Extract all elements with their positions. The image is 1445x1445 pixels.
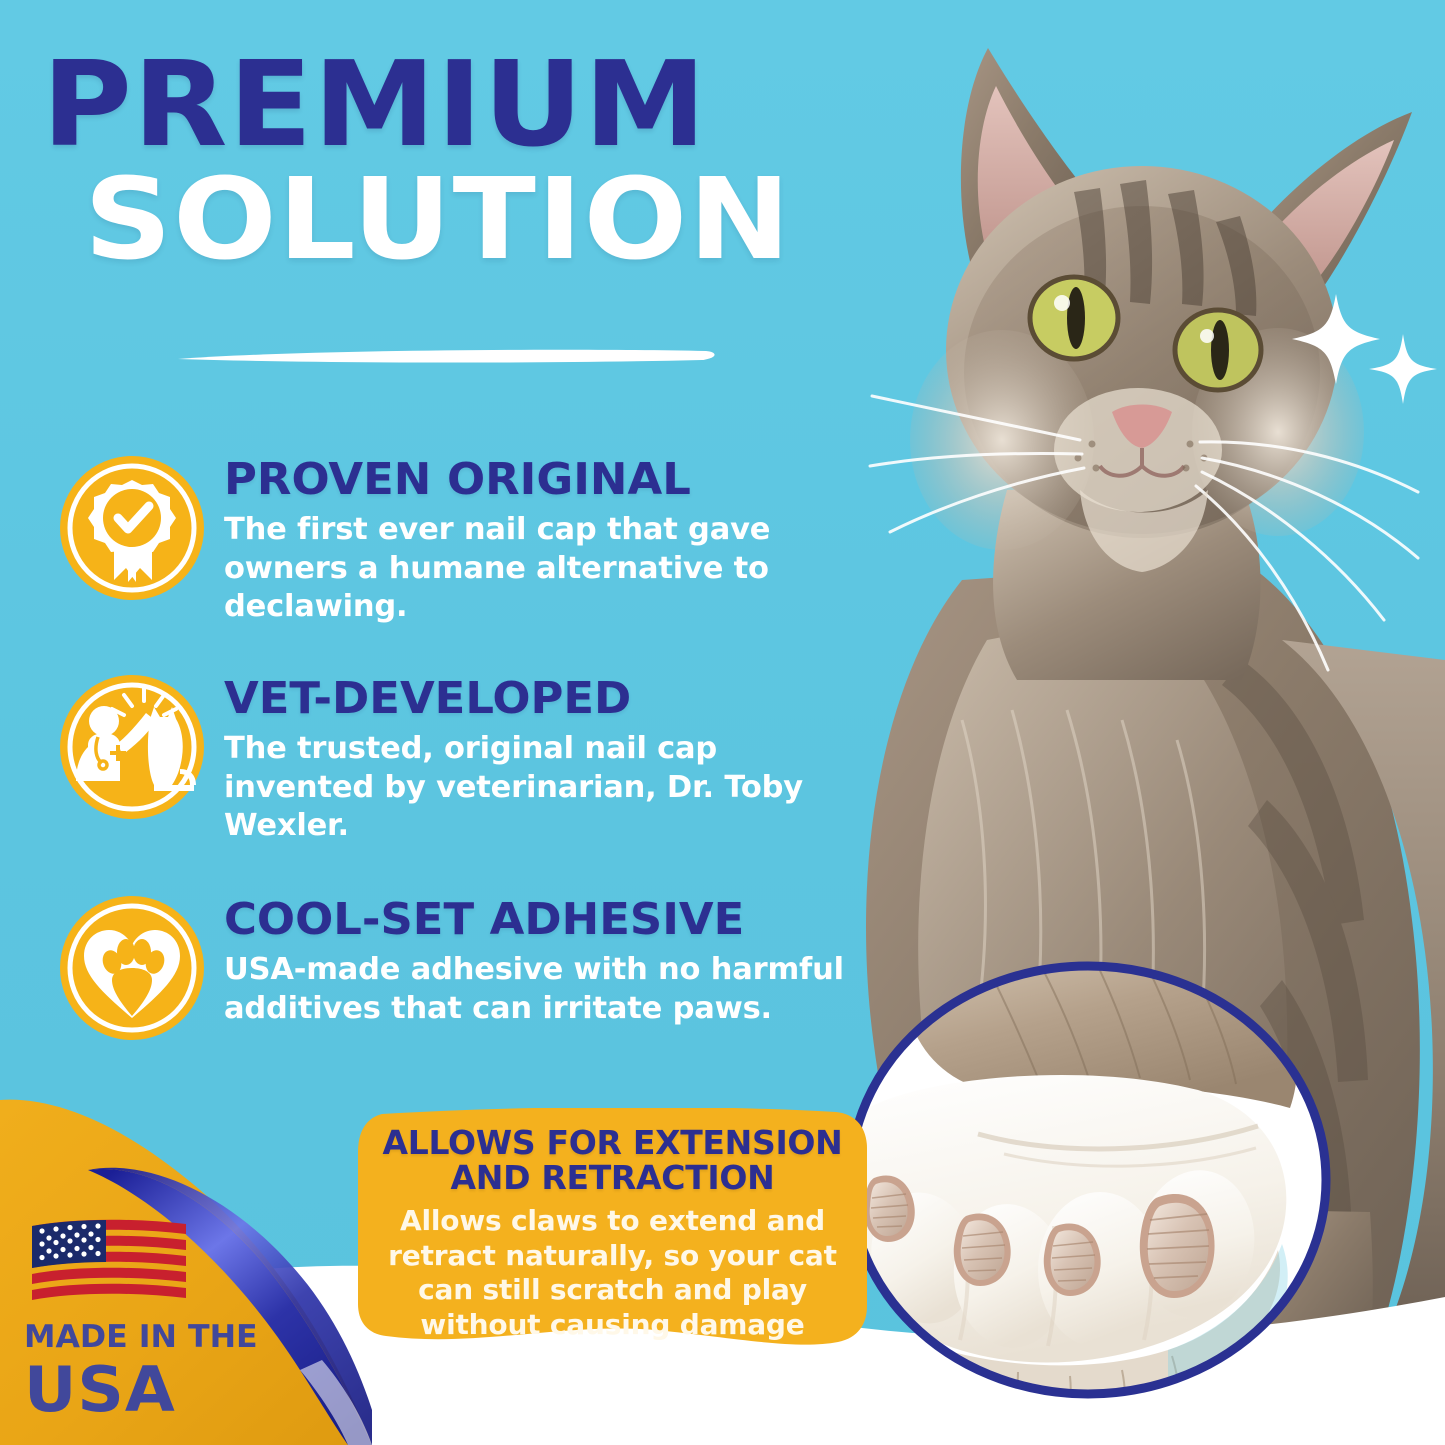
feature-item: VET-DEVELOPED The trusted, original nail… [58, 671, 848, 846]
feature-body: The trusted, original nail cap invented … [224, 730, 848, 846]
headline: PREMIUM SOLUTION [42, 48, 852, 276]
heart-paw-icon [58, 894, 206, 1042]
feature-list: PROVEN ORIGINAL The first ever nail cap … [58, 452, 848, 1042]
feature-body: The first ever nail cap that gave owners… [224, 511, 848, 627]
feature-item: PROVEN ORIGINAL The first ever nail cap … [58, 452, 848, 627]
divider-swoosh [178, 348, 718, 364]
headline-line-2: SOLUTION [84, 166, 921, 276]
headline-line-1: PREMIUM [42, 48, 884, 160]
feature-text: COOL-SET ADHESIVE USA-made adhesive with… [224, 892, 848, 1028]
product-infographic-canvas: PREMIUM SOLUTION [0, 0, 1445, 1445]
feature-item: COOL-SET ADHESIVE USA-made adhesive with… [58, 892, 848, 1042]
feature-title: VET-DEVELOPED [224, 677, 860, 722]
feature-title: COOL-SET ADHESIVE [224, 898, 860, 943]
feature-title: PROVEN ORIGINAL [224, 458, 860, 503]
award-ribbon-check-icon [58, 454, 206, 602]
sparkle-stars-icon [1290, 290, 1440, 415]
feature-text: VET-DEVELOPED The trusted, original nail… [224, 671, 848, 846]
usa-label: USA [24, 1359, 263, 1421]
vet-high-five-cat-icon [58, 673, 206, 821]
feature-text: PROVEN ORIGINAL The first ever nail cap … [224, 452, 848, 627]
made-in-the-label: MADE IN THE [24, 1322, 259, 1353]
made-in-usa-badge: MADE IN THE USA [24, 1214, 254, 1421]
usa-flag-icon [24, 1214, 192, 1310]
feature-body: USA-made adhesive with no harmful additi… [224, 951, 848, 1028]
cat-paw-with-nail-caps-inset [838, 958, 1338, 1408]
